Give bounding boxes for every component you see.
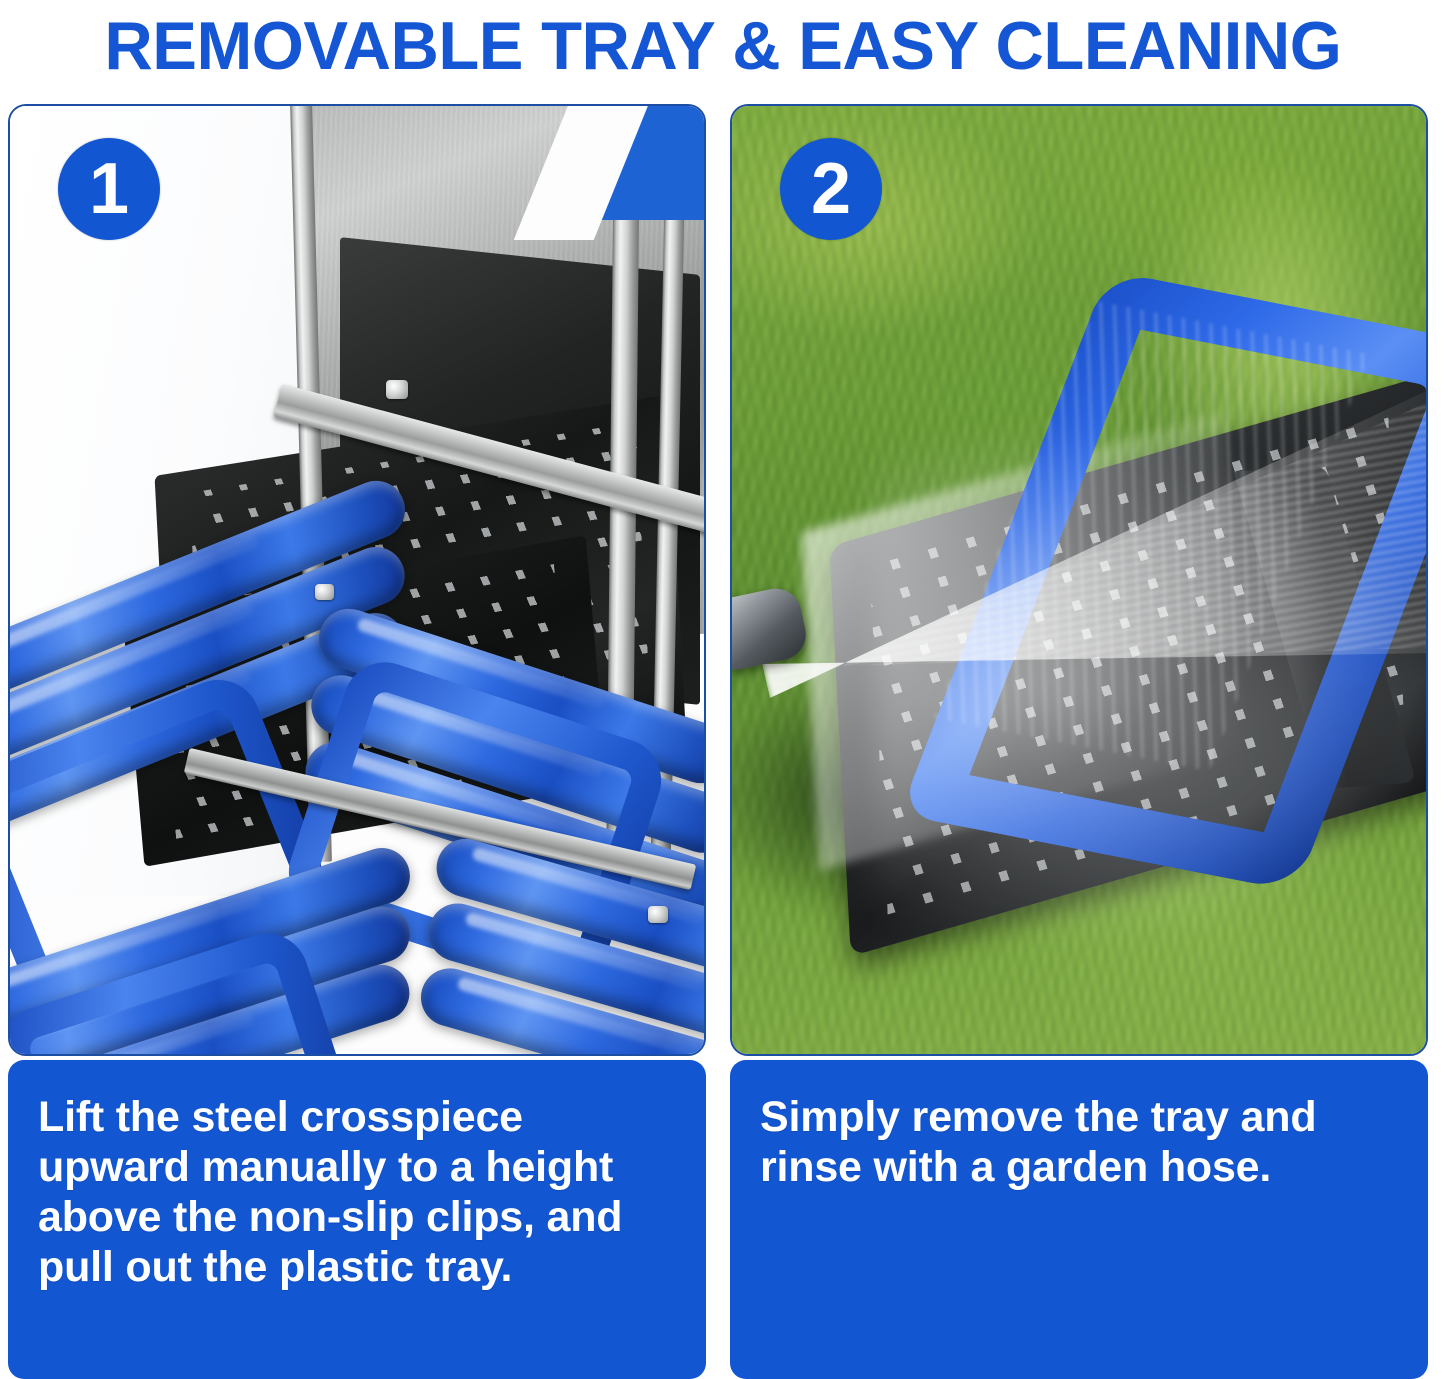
page-title: REMOVABLE TRAY & EASY CLEANING (104, 11, 1341, 81)
step-1-photo: 1 (8, 104, 706, 1056)
page-title-bar: REMOVABLE TRAY & EASY CLEANING (0, 0, 1445, 92)
step-number-2-label: 2 (811, 153, 851, 225)
bolt-icon (386, 380, 408, 399)
step-number-1-label: 1 (89, 153, 129, 225)
step-card-2: 2 Simply remove the tray and rinse with … (730, 104, 1428, 1379)
step-number-1-badge: 1 (58, 138, 160, 240)
step-2-scene (732, 106, 1426, 1054)
step-2-caption-box: Simply remove the tray and rinse with a … (730, 1060, 1428, 1379)
step-2-photo: 2 (730, 104, 1428, 1056)
step-2-caption-text: Simply remove the tray and rinse with a … (760, 1092, 1398, 1192)
step-1-caption-text: Lift the steel crosspiece upward manuall… (38, 1092, 676, 1292)
step-1-scene (10, 106, 704, 1054)
step-card-1: 1 Lift the steel crosspiece upward manua… (8, 104, 706, 1379)
blue-corner-accent (580, 104, 706, 220)
step-number-2-badge: 2 (780, 138, 882, 240)
bolt-icon (315, 584, 334, 600)
bolt-icon (648, 906, 668, 923)
steps-container: 1 Lift the steel crosspiece upward manua… (0, 104, 1445, 1379)
step-1-caption-box: Lift the steel crosspiece upward manuall… (8, 1060, 706, 1379)
